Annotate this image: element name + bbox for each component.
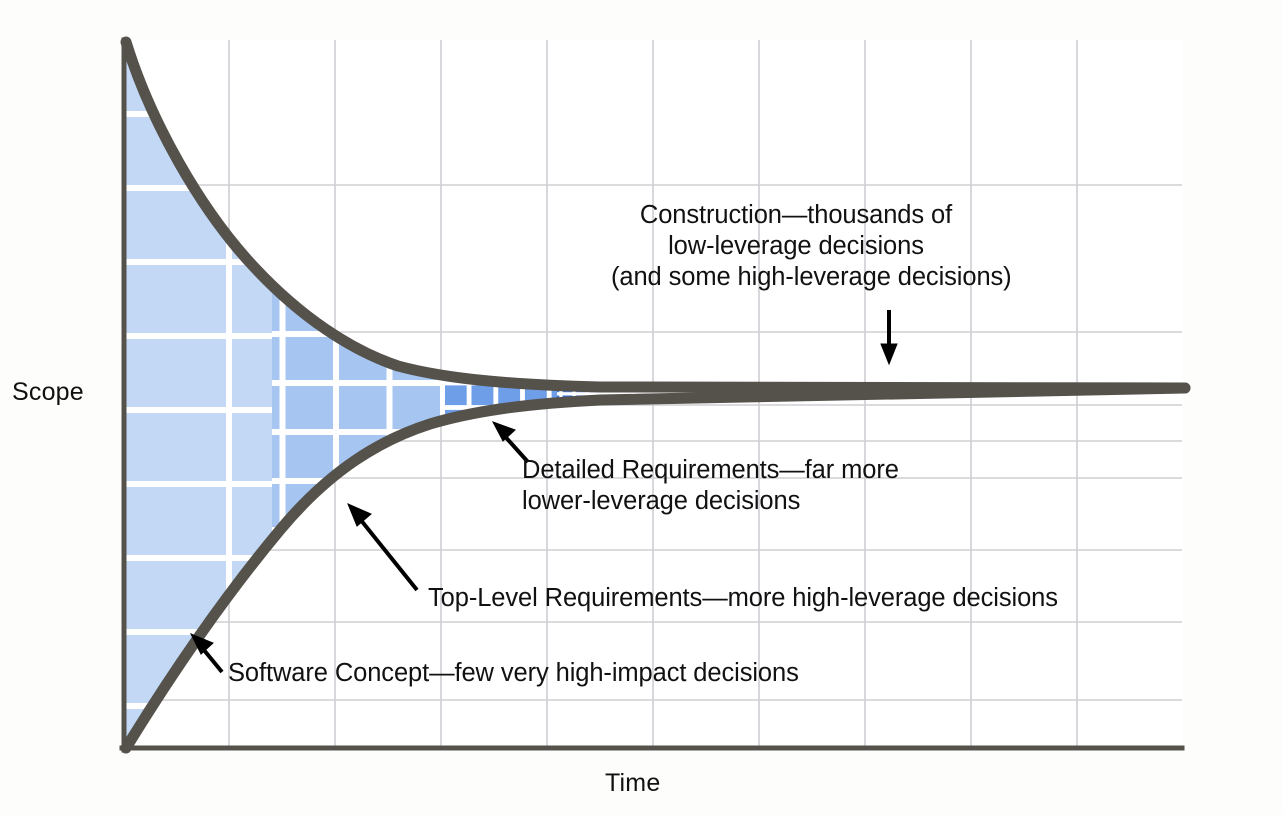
annotation-software-concept: Software Concept—few very high-impact de…	[228, 658, 799, 689]
annotation-construction: Construction—thousands of low-leverage d…	[611, 200, 981, 293]
annotation-detailed-requirements: Detailed Requirements—far more lower-lev…	[522, 455, 899, 517]
y-axis-label: Scope	[12, 378, 84, 407]
annotation-construction-line3: (and some high-leverage decisions)	[611, 262, 981, 293]
annotation-detailed-line2: lower-leverage decisions	[522, 486, 899, 517]
annotation-toplevel-line1: Top-Level Requirements—more high-leverag…	[428, 583, 1058, 614]
annotation-construction-line1: Construction—thousands of	[611, 200, 981, 231]
cone-of-uncertainty-chart	[0, 0, 1283, 815]
annotation-detailed-line1: Detailed Requirements—far more	[522, 455, 899, 486]
annotation-top-level-requirements: Top-Level Requirements—more high-leverag…	[428, 583, 1058, 614]
annotation-concept-line1: Software Concept—few very high-impact de…	[228, 658, 799, 689]
annotation-construction-line2: low-leverage decisions	[611, 231, 981, 262]
x-axis-label: Time	[605, 769, 660, 798]
